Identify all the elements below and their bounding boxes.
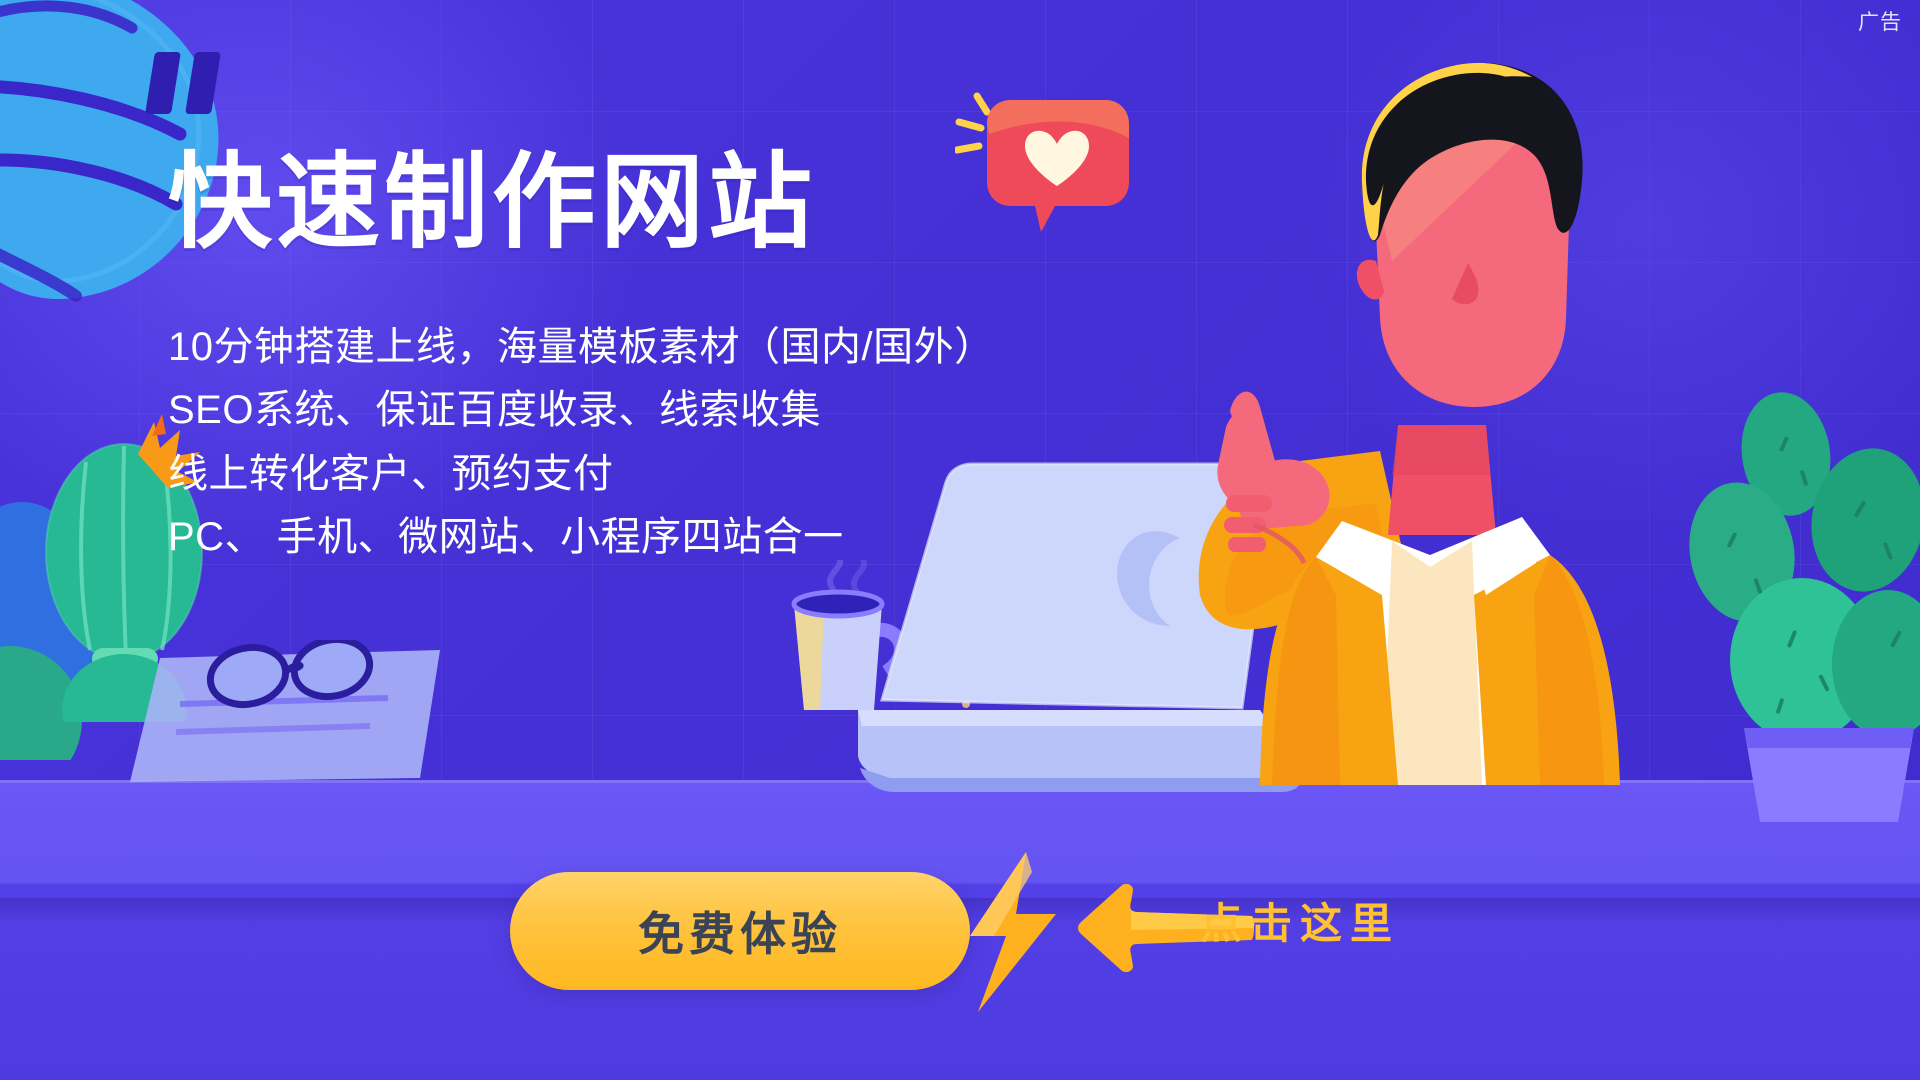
lightning-bolt-icon: [960, 852, 1070, 1012]
quote-mark-icon: [150, 52, 226, 118]
ad-label: 广告: [1858, 6, 1902, 36]
list-item: 线上转化客户、预约支付: [168, 443, 988, 506]
paper-sheet-icon: [120, 640, 450, 790]
copy-block: 快速制作网站 10分钟搭建上线，海量模板素材（国内/国外） SEO系统、保证百度…: [168, 148, 988, 569]
list-item: PC、 手机、微网站、小程序四站合一: [168, 506, 988, 569]
feature-list: 10分钟搭建上线，海量模板素材（国内/国外） SEO系统、保证百度收录、线索收集…: [168, 316, 988, 569]
list-item: SEO系统、保证百度收录、线索收集: [168, 379, 988, 442]
list-item: 10分钟搭建上线，海量模板素材（国内/国外）: [168, 316, 988, 379]
prickly-pear-cactus-icon: [1682, 392, 1920, 822]
page-title: 快速制作网站: [168, 148, 988, 258]
ad-banner[interactable]: 快速制作网站 10分钟搭建上线，海量模板素材（国内/国外） SEO系统、保证百度…: [0, 0, 1920, 1080]
person-pointing-illustration: [1130, 55, 1650, 785]
free-trial-button[interactable]: 免费体验: [510, 872, 970, 990]
free-trial-button-label: 免费体验: [638, 898, 842, 964]
click-here-callout: 点击这里: [1200, 890, 1400, 951]
